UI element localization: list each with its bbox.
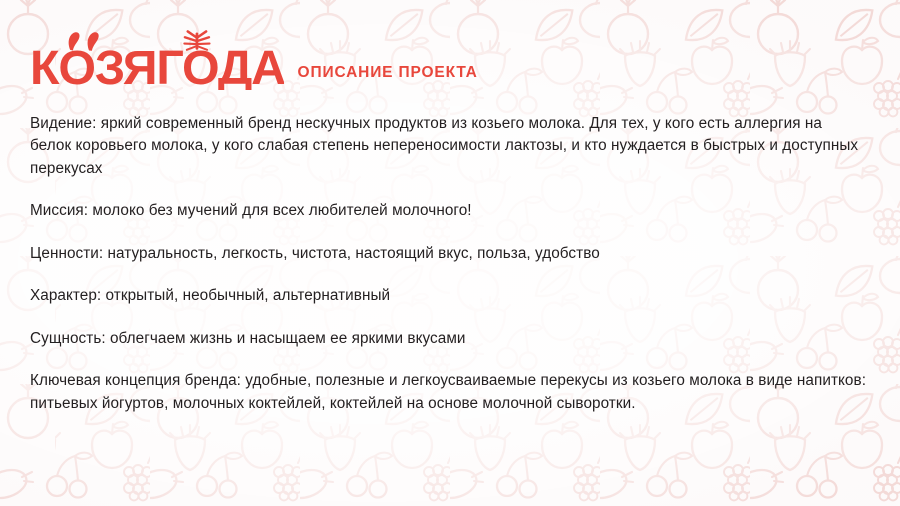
- slide-subtitle: ОПИСАНИЕ ПРОЕКТА: [298, 65, 478, 91]
- logo-wordmark-text: КОЗЯГОДА: [30, 41, 284, 90]
- paragraph-character: Характер: открытый, необычный, альтернат…: [30, 285, 866, 307]
- slide-canvas: КОЗЯГОДА ОПИСАНИЕ ПРОЕКТА Видение: яркий…: [0, 0, 900, 506]
- brand-logo: КОЗЯГОДА: [30, 30, 284, 90]
- paragraph-vision: Видение: яркий современный бренд нескучн…: [30, 113, 866, 180]
- paragraph-key-concept: Ключевая концепция бренда: удобные, поле…: [30, 370, 866, 415]
- paragraph-mission: Миссия: молоко без мучений для всех люби…: [30, 200, 866, 222]
- slide-header: КОЗЯГОДА ОПИСАНИЕ ПРОЕКТА: [30, 30, 478, 90]
- project-description-body: Видение: яркий современный бренд нескучн…: [30, 113, 866, 415]
- paragraph-values: Ценности: натуральность, легкость, чисто…: [30, 243, 866, 265]
- paragraph-essence: Сущность: облегчаем жизнь и насыщаем ее …: [30, 328, 866, 350]
